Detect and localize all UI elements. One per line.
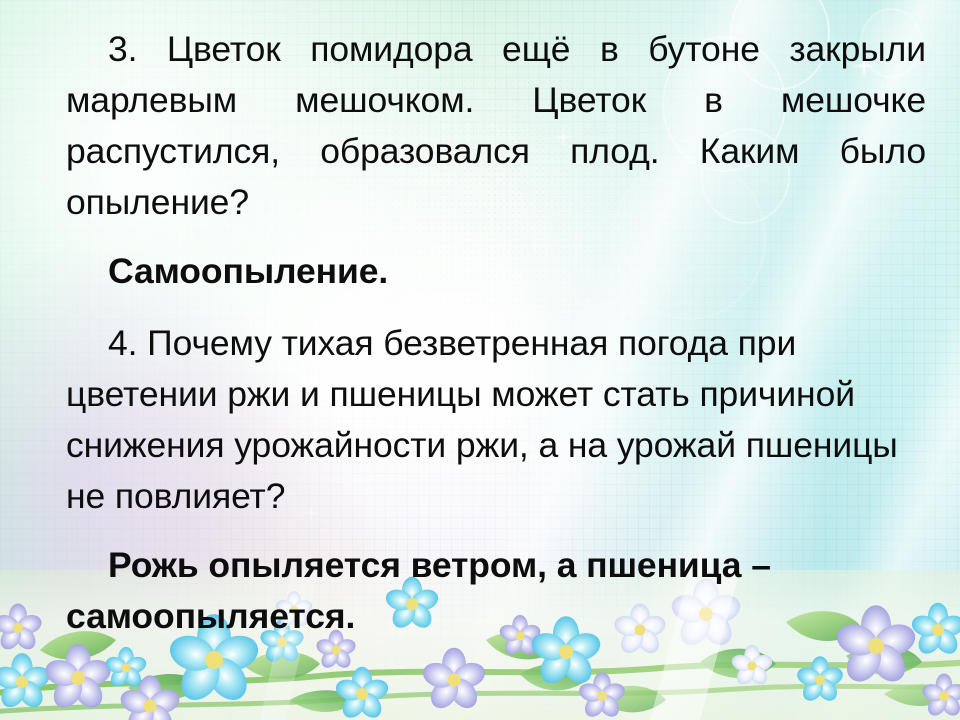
slide-text-content: 3. Цветок помидора ещё в бутоне закрыли … <box>66 24 926 642</box>
spacer <box>66 522 926 540</box>
answer-3-text: Самоопыление. <box>66 246 926 297</box>
question-4-text: 4. Почему тихая безветренная погода при … <box>66 318 926 522</box>
spacer <box>66 297 926 318</box>
question-3-text: 3. Цветок помидора ещё в бутоне закрыли … <box>66 24 926 228</box>
spacer <box>66 228 926 246</box>
slide-canvas: 3. Цветок помидора ещё в бутоне закрыли … <box>0 0 960 720</box>
answer-4-text: Рожь опыляется ветром, а пшеница – самоо… <box>66 540 926 642</box>
